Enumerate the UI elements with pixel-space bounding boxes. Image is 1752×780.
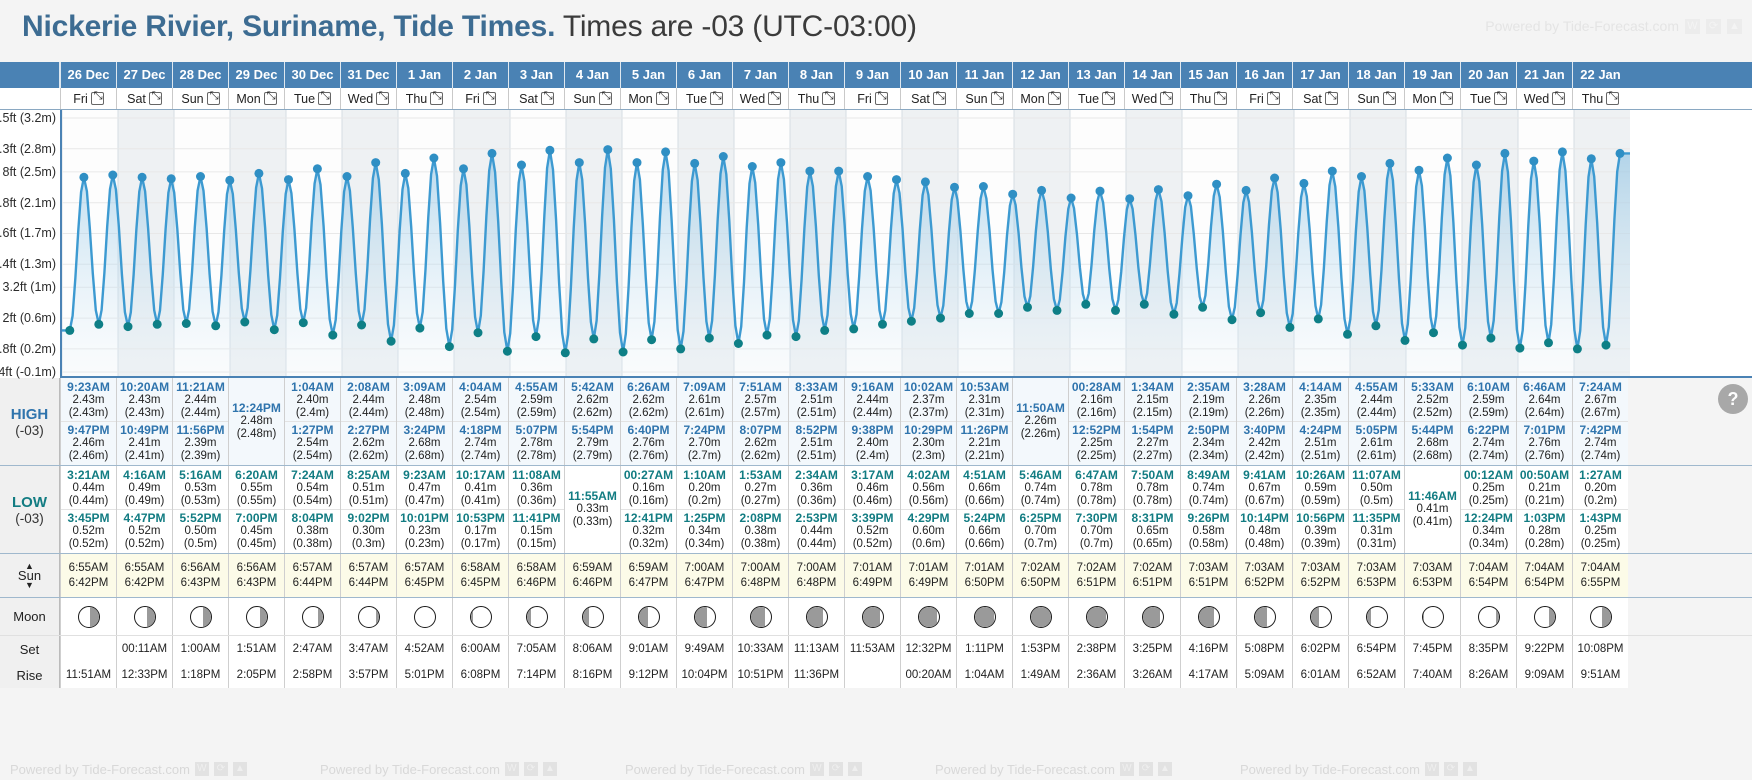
expand-day-icon[interactable] [207, 92, 220, 105]
tide-height: 0.70m [1081, 525, 1113, 538]
tide-height: 0.48m [1249, 525, 1281, 538]
tide-time: 12:24PM [232, 402, 281, 415]
tide-time: 2:34AM [795, 469, 838, 482]
moon-cell [60, 598, 116, 635]
tide-event: 5:46AM0.74m(0.74m) [1013, 467, 1068, 509]
tide-event: 5:52PM0.50m(0.5m) [173, 509, 228, 552]
tide-height-alt: (2.39m) [181, 450, 221, 463]
sunset-time: 6:42PM [69, 576, 109, 591]
high-tide-cell: 11:21AM2.44m(2.44m)11:56PM2.39m(2.39m) [172, 378, 228, 465]
tide-height-alt: (2.59m) [1469, 407, 1509, 420]
tide-event: 11:50AM2.26m(2.26m) [1013, 379, 1068, 464]
tide-time: 3:21AM [67, 469, 110, 482]
date-header-cell[interactable]: 16 Jan [1236, 62, 1292, 88]
date-header-cell[interactable]: 14 Jan [1124, 62, 1180, 88]
tide-event: 6:47AM0.78m(0.78m) [1069, 467, 1124, 509]
expand-day-icon[interactable] [822, 92, 835, 105]
sun-cell: 7:04AM6:54PM [1460, 554, 1516, 597]
expand-day-icon[interactable] [264, 92, 277, 105]
expand-day-icon[interactable] [991, 92, 1004, 105]
tide-event: 10:53AM2.31m(2.31m) [957, 379, 1012, 421]
moon-set-cell: 6:02PM [1292, 636, 1348, 662]
tide-time: 3:17AM [851, 469, 894, 482]
tide-height: 0.32m [633, 525, 665, 538]
sunrise-time: 6:57AM [405, 561, 445, 576]
sunset-time: 6:51PM [1133, 576, 1173, 591]
expand-day-icon[interactable] [1552, 92, 1565, 105]
tide-height: 0.74m [1025, 482, 1057, 495]
tide-time: 5:24PM [963, 512, 1005, 525]
tide-height: 2.41m [129, 437, 161, 450]
moon-cell [844, 598, 900, 635]
tide-height: 2.59m [521, 394, 553, 407]
tide-height: 0.65m [1137, 525, 1169, 538]
tide-height-alt: (2.44m) [181, 407, 221, 420]
tide-time: 4:55AM [515, 381, 558, 394]
date-header-cell[interactable]: 28 Dec [172, 62, 228, 88]
weekday-header-cell: Thu [1572, 88, 1628, 109]
moon-rise-cell: 11:36PM [788, 662, 844, 688]
tide-height-alt: (2.79m) [573, 450, 613, 463]
date-header-cell[interactable]: 20 Jan [1460, 62, 1516, 88]
tide-event: 6:46AM2.64m(2.64m) [1517, 379, 1572, 421]
tide-height-alt: (0.21m) [1525, 495, 1565, 508]
expand-day-icon[interactable] [710, 92, 723, 105]
high-tide-cell: 7:09AM2.61m(2.61m)7:24PM2.70m(2.7m) [676, 378, 732, 465]
moon-phase-icon [78, 606, 100, 628]
moon-set-cell: 9:01AM [620, 636, 676, 662]
tide-time: 7:24AM [291, 469, 334, 482]
moon-rise-cell: 5:09AM [1236, 662, 1292, 688]
expand-day-icon[interactable] [483, 92, 496, 105]
sunset-time: 6:45PM [405, 576, 445, 591]
weekday-header-cell: Fri [60, 88, 116, 109]
date-header-cell[interactable]: 7 Jan [732, 62, 788, 88]
expand-day-icon[interactable] [149, 92, 162, 105]
weekday-label: Thu [1582, 92, 1604, 106]
weekday-header-cell: Sat [508, 88, 564, 109]
tide-event: 11:26PM2.21m(2.21m) [957, 421, 1012, 464]
weekday-label: Wed [740, 92, 765, 106]
weekday-header-cell: Mon [620, 88, 676, 109]
y-axis-tick-label: 0.4ft (-0.1m) [0, 365, 56, 379]
date-header-cell[interactable]: 4 Jan [564, 62, 620, 88]
tide-height: 2.44m [353, 394, 385, 407]
tide-event: 1:04AM2.40m(2.4m) [285, 379, 340, 421]
tide-height: 2.61m [689, 394, 721, 407]
tide-time: 10:14PM [1240, 512, 1289, 525]
tide-height: 2.37m [913, 394, 945, 407]
tide-height: 0.66m [969, 482, 1001, 495]
tide-height: 2.64m [1529, 394, 1561, 407]
weekday-label: Wed [1524, 92, 1549, 106]
moon-cell [956, 598, 1012, 635]
date-header-cell[interactable]: 15 Jan [1180, 62, 1236, 88]
tide-height-alt: (2.34m) [1189, 450, 1229, 463]
expand-day-icon[interactable] [318, 92, 331, 105]
moon-rise-cell: 9:09AM [1516, 662, 1572, 688]
moon-set-cell: 12:32PM [900, 636, 956, 662]
low-tide-cell: 8:49AM0.74m(0.74m)9:26PM0.58m(0.58m) [1180, 466, 1236, 553]
tide-event: 10:53PM0.17m(0.17m) [453, 509, 508, 552]
sun-cell: 6:57AM6:45PM [396, 554, 452, 597]
expand-day-icon[interactable] [875, 92, 888, 105]
sun-cell: 7:03AM6:53PM [1348, 554, 1404, 597]
tide-event: 7:50AM0.78m(0.78m) [1125, 467, 1180, 509]
tide-event: 5:07PM2.78m(2.78m) [509, 421, 564, 464]
expand-day-icon[interactable] [1102, 92, 1115, 105]
moon-phase-icon [806, 606, 828, 628]
expand-day-icon[interactable] [1214, 92, 1227, 105]
date-header-cell[interactable]: 29 Dec [228, 62, 284, 88]
wind-icon: W [1120, 762, 1134, 776]
sunrise-time: 7:03AM [1357, 561, 1397, 576]
tide-height: 2.40m [857, 437, 889, 450]
tide-height-alt: (2.35m) [1301, 407, 1341, 420]
sunrise-time: 7:01AM [965, 561, 1005, 576]
expand-day-icon[interactable] [541, 92, 554, 105]
tide-height-alt: (0.3m) [352, 538, 385, 551]
low-tide-label: LOW (-03) [0, 466, 60, 553]
low-tide-cell: 7:24AM0.54m(0.54m)8:04PM0.38m(0.38m) [284, 466, 340, 553]
tide-event: 3:45PM0.52m(0.52m) [61, 509, 116, 552]
tide-time: 4:14AM [1299, 381, 1342, 394]
moon-rise-cell: 3:26AM [1124, 662, 1180, 688]
tide-height: 0.53m [185, 482, 217, 495]
sun-cell: 6:57AM6:44PM [284, 554, 340, 597]
moon-rise-cell: 1:49AM [1012, 662, 1068, 688]
moon-rise-cell: 8:16PM [564, 662, 620, 688]
tide-height: 0.49m [129, 482, 161, 495]
date-header-cell[interactable]: 18 Jan [1348, 62, 1404, 88]
tide-event: 5:33AM2.52m(2.52m) [1405, 379, 1460, 421]
refresh-icon: ⟳ [214, 762, 228, 776]
tide-height: 2.70m [689, 437, 721, 450]
tide-height: 2.61m [1361, 437, 1393, 450]
tide-event: 10:26AM0.59m(0.59m) [1293, 467, 1348, 509]
tide-event: 4:47PM0.52m(0.52m) [117, 509, 172, 552]
tide-height-alt: (0.66m) [965, 538, 1005, 551]
expand-day-icon[interactable] [656, 92, 669, 105]
tide-height: 0.52m [129, 525, 161, 538]
date-header-cell[interactable]: 31 Dec [340, 62, 396, 88]
tide-height: 0.15m [521, 525, 553, 538]
moon-phase-icon [1198, 606, 1220, 628]
date-header-cell[interactable]: 27 Dec [116, 62, 172, 88]
weekday-header-cell: Tue [676, 88, 732, 109]
tide-height-alt: (0.23m) [405, 538, 445, 551]
tide-event: 6:40PM2.76m(2.76m) [621, 421, 676, 464]
low-tide-cell: 00:27AM0.16m(0.16m)12:41PM0.32m(0.32m) [620, 466, 676, 553]
sunset-time: 6:52PM [1301, 576, 1341, 591]
weekday-label: Fri [1249, 92, 1264, 106]
sun-cell: 7:04AM6:54PM [1516, 554, 1572, 597]
tide-height: 0.20m [689, 482, 721, 495]
tide-time: 8:04PM [291, 512, 333, 525]
sunset-time: 6:49PM [909, 576, 949, 591]
y-axis-tick-label: 4.4ft (1.3m) [0, 257, 56, 271]
tide-event: 5:24PM0.66m(0.66m) [957, 509, 1012, 552]
moon-rise-cell: 10:04PM [676, 662, 732, 688]
date-header-cell[interactable]: 30 Dec [284, 62, 340, 88]
date-header-cell[interactable]: 5 Jan [620, 62, 676, 88]
moon-phase-icon [1534, 606, 1556, 628]
tide-height: 2.26m [1249, 394, 1281, 407]
tide-event: 1:53AM0.27m(0.27m) [733, 467, 788, 509]
tide-height: 0.59m [1305, 482, 1337, 495]
moon-phase-icon [918, 606, 940, 628]
sun-row: ▲ Sun ▼ 6:55AM6:42PM6:55AM6:42PM6:56AM6:… [0, 554, 1752, 598]
tide-height: 0.54m [297, 482, 329, 495]
tide-height-alt: (2.52m) [1413, 407, 1453, 420]
date-header-cell[interactable]: 22 Jan [1572, 62, 1628, 88]
moon-rise-label: Rise [0, 662, 60, 688]
tide-event: 8:33AM2.51m(2.51m) [789, 379, 844, 421]
tide-time: 6:47AM [1075, 469, 1118, 482]
expand-day-icon[interactable] [599, 92, 612, 105]
tide-height: 2.43m [73, 394, 105, 407]
expand-day-icon[interactable] [768, 92, 781, 105]
moon-cell [508, 598, 564, 635]
moon-set-cell: 9:22PM [1516, 636, 1572, 662]
tide-height-alt: (0.41m) [461, 495, 501, 508]
tide-height: 0.38m [745, 525, 777, 538]
now-badge: ? [1718, 384, 1748, 414]
moon-rise-cell: 2:58PM [284, 662, 340, 688]
tide-time: 5:16AM [179, 469, 222, 482]
sunset-time: 6:46PM [573, 576, 613, 591]
sun-cell: 7:01AM6:50PM [956, 554, 1012, 597]
tide-event: 1:10AM0.20m(0.2m) [677, 467, 732, 509]
tide-height-alt: (2.7m) [688, 450, 721, 463]
sun-cell: 7:03AM6:52PM [1292, 554, 1348, 597]
tide-height: 2.74m [465, 437, 497, 450]
tide-time: 4:02AM [907, 469, 950, 482]
tide-height-alt: (0.36m) [797, 495, 837, 508]
y-axis-tick-label: 3.2ft (1m) [3, 280, 57, 294]
date-header-cell[interactable]: 11 Jan [956, 62, 1012, 88]
expand-day-icon[interactable] [1383, 92, 1396, 105]
moon-rise-row: Rise 11:51AM12:33PM1:18PM2:05PM2:58PM3:5… [0, 662, 1752, 688]
moon-set-cell: 00:11AM [116, 636, 172, 662]
expand-day-icon[interactable] [430, 92, 443, 105]
moon-set-cell: 11:53AM [844, 636, 900, 662]
surf-icon: ▲ [1727, 19, 1742, 34]
tide-height-alt: (2.27m) [1133, 450, 1173, 463]
moon-cell [676, 598, 732, 635]
date-header-cell[interactable]: 17 Jan [1292, 62, 1348, 88]
tide-height: 0.28m [1529, 525, 1561, 538]
tide-event: 10:01PM0.23m(0.23m) [397, 509, 452, 552]
low-tide-cell: 1:10AM0.20m(0.2m)1:25PM0.34m(0.34m) [676, 466, 732, 553]
tide-height-alt: (2.4m) [856, 450, 889, 463]
sun-cell: 7:01AM6:49PM [844, 554, 900, 597]
tide-event: 4:55AM2.44m(2.44m) [1349, 379, 1404, 421]
footer-watermark: Powered by Tide-Forecast.com W ⟳ ▲ [625, 762, 862, 777]
expand-day-icon[interactable] [1325, 92, 1338, 105]
moon-cell [1236, 598, 1292, 635]
date-header-cell[interactable]: 26 Dec [60, 62, 116, 88]
sun-cell: 6:57AM6:44PM [340, 554, 396, 597]
tide-height-alt: (0.52m) [69, 538, 109, 551]
date-header-cell[interactable]: 21 Jan [1516, 62, 1572, 88]
expand-day-icon[interactable] [1267, 92, 1280, 105]
tide-height-alt: (0.32m) [629, 538, 669, 551]
tide-event: 8:31PM0.65m(0.65m) [1125, 509, 1180, 552]
tide-height: 0.46m [857, 482, 889, 495]
tide-height-alt: (2.59m) [517, 407, 557, 420]
sunset-time: 6:47PM [685, 576, 725, 591]
high-tide-cell: 3:28AM2.26m(2.26m)3:40PM2.42m(2.42m) [1236, 378, 1292, 465]
tide-time: 12:24PM [1464, 512, 1513, 525]
sun-cell: 6:59AM6:47PM [620, 554, 676, 597]
weekday-label: Fri [73, 92, 88, 106]
tide-height: 2.31m [969, 394, 1001, 407]
date-header-cell[interactable]: 10 Jan [900, 62, 956, 88]
tide-time: 12:52PM [1072, 424, 1121, 437]
expand-day-icon[interactable] [1606, 92, 1619, 105]
high-tide-cell: 12:24PM2.48m(2.48m) [228, 378, 284, 465]
moon-set-cell [60, 636, 116, 662]
tide-time: 7:42PM [1579, 424, 1621, 437]
tide-event: 3:17AM0.46m(0.46m) [845, 467, 900, 509]
tide-time: 1:27PM [291, 424, 333, 437]
tide-height: 2.78m [521, 437, 553, 450]
expand-day-icon[interactable] [1494, 92, 1507, 105]
moon-set-cell: 11:13AM [788, 636, 844, 662]
tide-grid: 26 Dec27 Dec28 Dec29 Dec30 Dec31 Dec1 Ja… [0, 62, 1752, 688]
date-header-cell[interactable]: 12 Jan [1012, 62, 1068, 88]
tide-height-alt: (2.4m) [296, 407, 329, 420]
expand-day-icon[interactable] [1160, 92, 1173, 105]
date-header-cell[interactable]: 19 Jan [1404, 62, 1460, 88]
sun-label: ▲ Sun ▼ [0, 554, 60, 597]
tide-height: 0.45m [241, 525, 273, 538]
low-label-text: LOW [12, 494, 47, 511]
sunset-time: 6:51PM [1189, 576, 1229, 591]
moon-cell [1516, 598, 1572, 635]
expand-day-icon[interactable] [1440, 92, 1453, 105]
low-tide-cell: 9:41AM0.67m(0.67m)10:14PM0.48m(0.48m) [1236, 466, 1292, 553]
tide-height: 0.38m [297, 525, 329, 538]
tide-event: 4:24PM2.51m(2.51m) [1293, 421, 1348, 464]
tide-height: 2.40m [297, 394, 329, 407]
footer-powered-text: Powered by Tide-Forecast.com [625, 762, 805, 777]
tide-height: 2.42m [1249, 437, 1281, 450]
tide-time: 4:16AM [123, 469, 166, 482]
date-header-cell[interactable]: 6 Jan [676, 62, 732, 88]
expand-day-icon[interactable] [376, 92, 389, 105]
tide-height-alt: (2.54m) [461, 407, 501, 420]
tide-event: 3:21AM0.44m(0.44m) [61, 467, 116, 509]
location-title: Nickerie Rivier, Suriname, Tide Times. [22, 10, 555, 43]
expand-day-icon[interactable] [933, 92, 946, 105]
moon-set-cell: 6:00AM [452, 636, 508, 662]
tide-height-alt: (0.36m) [517, 495, 557, 508]
date-header-cell[interactable]: 3 Jan [508, 62, 564, 88]
date-header-cell[interactable]: 13 Jan [1068, 62, 1124, 88]
tide-height-alt: (0.54m) [293, 495, 333, 508]
footer-watermark: Powered by Tide-Forecast.com W ⟳ ▲ [10, 762, 247, 777]
expand-day-icon[interactable] [91, 92, 104, 105]
sunrise-time: 7:03AM [1245, 561, 1285, 576]
weekday-label: Fri [857, 92, 872, 106]
sunset-time: 6:53PM [1357, 576, 1397, 591]
chart-plot-area [60, 110, 1752, 378]
tide-height: 2.57m [745, 394, 777, 407]
tide-chart: 10.5ft (3.2m)9.3ft (2.8m)8ft (2.5m)6.8ft… [0, 110, 1752, 378]
tide-height-alt: (2.76m) [629, 450, 669, 463]
sunset-time: 6:44PM [293, 576, 333, 591]
weekday-header-cell: Tue [1068, 88, 1124, 109]
tide-height-alt: (0.7m) [1024, 538, 1057, 551]
high-tide-cell: 8:33AM2.51m(2.51m)8:52PM2.51m(2.51m) [788, 378, 844, 465]
moon-phase-row: Moon [0, 598, 1752, 636]
tide-height-alt: (2.48m) [405, 407, 445, 420]
tide-time: 6:40PM [627, 424, 669, 437]
weekday-label: Sat [911, 92, 930, 106]
tide-height: 2.74m [1473, 437, 1505, 450]
weekday-header-cell: Sat [900, 88, 956, 109]
tide-event: 1:34AM2.15m(2.15m) [1125, 379, 1180, 421]
tide-event: 6:20AM0.55m(0.55m) [229, 467, 284, 509]
tide-event: 2:35AM2.19m(2.19m) [1181, 379, 1236, 421]
sunrise-time: 7:01AM [853, 561, 893, 576]
expand-day-icon[interactable] [1048, 92, 1061, 105]
tide-height: 0.44m [73, 482, 105, 495]
tide-height: 0.55m [241, 482, 273, 495]
tide-event: 7:30PM0.70m(0.7m) [1069, 509, 1124, 552]
date-header-cell[interactable]: 8 Jan [788, 62, 844, 88]
moon-rise-cell: 00:20AM [900, 662, 956, 688]
moon-rise-cell: 2:36AM [1068, 662, 1124, 688]
moon-set-cell: 7:05AM [508, 636, 564, 662]
tide-height-alt: (2.62m) [349, 450, 389, 463]
tide-height: 2.67m [1585, 394, 1617, 407]
tide-event: 10:20AM2.43m(2.43m) [117, 379, 172, 421]
surf-icon: ▲ [1463, 762, 1477, 776]
sunset-time: 6:43PM [237, 576, 277, 591]
tide-height-alt: (0.48m) [1245, 538, 1285, 551]
weekday-label: Sun [573, 92, 595, 106]
tide-time: 5:46AM [1019, 469, 1062, 482]
date-header-row: 26 Dec27 Dec28 Dec29 Dec30 Dec31 Dec1 Ja… [0, 62, 1752, 88]
tide-height: 0.39m [1305, 525, 1337, 538]
moon-set-cell: 2:47AM [284, 636, 340, 662]
tide-time: 11:41PM [512, 512, 560, 525]
tide-event: 9:23AM2.43m(2.43m) [61, 379, 116, 421]
low-tide-cell: 11:08AM0.36m(0.36m)11:41PM0.15m(0.15m) [508, 466, 564, 553]
sun-cell: 7:04AM6:55PM [1572, 554, 1628, 597]
sunset-time: 6:48PM [797, 576, 837, 591]
date-header-cell[interactable]: 9 Jan [844, 62, 900, 88]
tide-time: 10:26AM [1296, 469, 1345, 482]
low-tide-cell: 4:51AM0.66m(0.66m)5:24PM0.66m(0.66m) [956, 466, 1012, 553]
tide-time: 9:02PM [347, 512, 389, 525]
moon-rise-cell: 6:01AM [1292, 662, 1348, 688]
moon-label: Moon [0, 598, 60, 635]
tide-time: 8:49AM [1187, 469, 1230, 482]
tide-height: 2.54m [297, 437, 329, 450]
high-tide-cell: 5:42AM2.62m(2.62m)5:54PM2.79m(2.79m) [564, 378, 620, 465]
tide-time: 3:24PM [403, 424, 445, 437]
date-header-cell[interactable]: 2 Jan [452, 62, 508, 88]
tide-event: 3:28AM2.26m(2.26m) [1237, 379, 1292, 421]
tide-time: 1:04AM [291, 381, 334, 394]
tide-height: 0.50m [185, 525, 217, 538]
moon-set-cell: 4:52AM [396, 636, 452, 662]
date-header-cell[interactable]: 1 Jan [396, 62, 452, 88]
